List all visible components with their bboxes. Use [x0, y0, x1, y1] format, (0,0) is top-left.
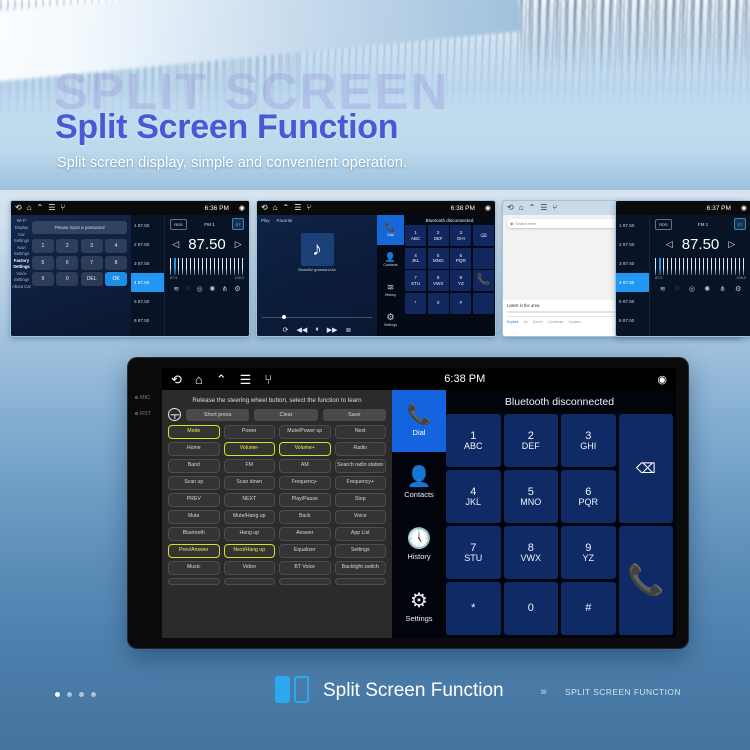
- rail-dial-label: Dial: [413, 428, 426, 437]
- radio-icon-2[interactable]: ◌: [675, 285, 679, 293]
- radio-pane: 1 87.50 2 87.50 3 87.50 4 87.50 5 87.50 …: [131, 215, 249, 337]
- key-backspace[interactable]: ⌫: [619, 414, 674, 523]
- dot-2[interactable]: [67, 692, 72, 697]
- preset-list[interactable]: 1 87.50 2 87.50 3 87.50 4 87.50 5 87.50 …: [131, 215, 165, 337]
- stereo-button[interactable]: ST: [734, 218, 746, 230]
- key-5[interactable]: 5 MNO: [504, 470, 559, 523]
- pw-key-2[interactable]: 2: [56, 239, 78, 253]
- dial-panel: 📞 Dial 👤 Contacts 🕔 History ⚙ Settings: [392, 390, 676, 638]
- dial-main: Bluetooth disconnected 1 ABC 2 DEF 3 GHI: [446, 390, 676, 638]
- footer-caption: SPLIT SCREEN FUNCTION: [565, 687, 681, 697]
- radio-icon-1[interactable]: ≋: [173, 285, 179, 293]
- radio-main: RDS FM 1 ST ◁ 87.50 ▷ 87.5 108.0: [165, 215, 249, 337]
- music-tab-play[interactable]: Play: [261, 218, 270, 223]
- learn-actions: Short press Clear Save: [168, 408, 386, 421]
- steering-wheel-icon: [168, 408, 181, 421]
- fn-scan-up[interactable]: Scan up: [168, 476, 220, 490]
- menu-icon[interactable]: ☰: [240, 373, 252, 386]
- fn-hangup[interactable]: Hang up: [224, 527, 276, 541]
- backspace-icon: ⌫: [636, 461, 656, 476]
- mini-key-6[interactable]: 6PQR: [450, 248, 471, 269]
- rds-button[interactable]: RDS: [170, 219, 187, 230]
- next-station-icon[interactable]: ▷: [728, 239, 735, 250]
- learn-instruction: Release the steering wheel button, selec…: [168, 395, 386, 408]
- map-tab-go[interactable]: Go: [524, 320, 529, 324]
- key-5-num: 5: [528, 486, 534, 498]
- thumbnail-settings-radio[interactable]: ⟲ ⌂ ⌃ ☰ ⑂ 6:36 PM ◉ Wi-Fi Display Car Se…: [10, 200, 250, 337]
- dial-mini-rail[interactable]: 📞Dial 👤Contacts ≋History ⚙Settings: [377, 215, 404, 337]
- scale-ends: 87.5 108.0: [170, 276, 244, 280]
- mini-key-delete[interactable]: ⌫: [473, 225, 494, 246]
- preset-3[interactable]: 3 87.50: [131, 254, 164, 273]
- playlist-icon[interactable]: ≣: [346, 326, 352, 334]
- person-icon: 👤: [385, 253, 396, 262]
- map-tab-contribute[interactable]: Contribute: [548, 320, 564, 324]
- location-pin-icon: ◉: [485, 204, 491, 212]
- key-4-num: 4: [470, 486, 476, 498]
- menu-icon: ☰: [48, 204, 55, 212]
- pw-key-6[interactable]: 6: [56, 256, 78, 270]
- back-icon: ⟲: [507, 204, 514, 212]
- fn-scan-down[interactable]: Scan down: [224, 476, 276, 490]
- pw-key-1[interactable]: 1: [32, 239, 54, 253]
- mini-key-call[interactable]: 📞: [473, 270, 494, 291]
- preset-3[interactable]: 3 87.50: [616, 254, 649, 273]
- preset-6[interactable]: 6 87.50: [616, 311, 649, 330]
- mini-key-hash[interactable]: #: [450, 293, 471, 314]
- thumb2-statusbar: ⟲ ⌂ ⌃ ☰ ⑂ 6:38 PM ◉: [257, 201, 495, 215]
- fn-bt-voice[interactable]: BT Voice: [279, 561, 331, 575]
- back-icon[interactable]: ⟲: [171, 373, 182, 386]
- fn-mute[interactable]: Mute: [168, 510, 220, 524]
- short-press-button[interactable]: Short press: [186, 409, 249, 421]
- location-pin-icon: ◉: [741, 204, 747, 212]
- music-controls[interactable]: ⟳ ◀◀ ⏸ ▶▶ ≣: [257, 326, 377, 334]
- band-label: FM 1: [698, 222, 708, 227]
- key-star-num: *: [471, 602, 475, 614]
- radio-toolbar[interactable]: ≋ ◌ ◎ ✺ ⋔ ⚙: [170, 285, 244, 293]
- mini-rail-contacts[interactable]: 👤Contacts: [377, 245, 404, 275]
- usb-icon: ⑂: [264, 373, 272, 386]
- album-art: ♪: [301, 233, 334, 266]
- fn-voice[interactable]: Voice: [335, 510, 387, 524]
- bezel-labels: MIC RST: [135, 391, 151, 423]
- mini-key-9[interactable]: 9YZ: [450, 270, 471, 291]
- radio-icon-6[interactable]: ⚙: [735, 285, 741, 293]
- scale-high: 108.0: [234, 276, 244, 280]
- key-6[interactable]: 6 PQR: [561, 470, 616, 523]
- tuner-scale-2[interactable]: [655, 258, 746, 275]
- preset-4[interactable]: 4 87.50: [131, 273, 164, 292]
- fn-play-pause[interactable]: Play/Pause: [279, 493, 331, 507]
- frequency-value: 87.50: [188, 236, 226, 253]
- next-icon[interactable]: ▶▶: [327, 326, 338, 334]
- tuner-scale[interactable]: [170, 258, 244, 275]
- key-4[interactable]: 4 JKL: [446, 470, 501, 523]
- mini-rail-dial[interactable]: 📞Dial: [377, 215, 404, 245]
- fn-mute-powerup[interactable]: Mute/Power up: [279, 425, 331, 439]
- fn-fm[interactable]: FM: [224, 459, 276, 473]
- fn-prev[interactable]: PREV: [168, 493, 220, 507]
- split-pane-right-icon: [294, 676, 309, 703]
- radio-pane-2: 1 87.50 2 87.50 3 87.50 4 87.50 5 87.50 …: [616, 215, 750, 337]
- thumb4-statusbar: 6:37 PM ◉: [616, 201, 750, 215]
- preset-2[interactable]: 2 87.50: [616, 235, 649, 254]
- bluetooth-status: Bluetooth disconnected: [446, 390, 673, 414]
- fn-home[interactable]: Home: [168, 442, 220, 456]
- rail-item-6[interactable]: About Car: [11, 284, 32, 290]
- key-call[interactable]: 📞: [619, 526, 674, 635]
- key-8-num: 8: [528, 542, 534, 554]
- key-7[interactable]: 7 STU: [446, 526, 501, 579]
- frequency-value: 87.50: [682, 236, 720, 253]
- rail-dial[interactable]: 📞 Dial: [392, 390, 446, 452]
- radio-icon-5[interactable]: ⋔: [720, 285, 726, 293]
- thumb4-time: 6:37 PM: [707, 205, 731, 212]
- clear-button[interactable]: Clear: [254, 409, 317, 421]
- fn-power[interactable]: Power: [224, 425, 276, 439]
- device-screen: ⟲ ⌂ ⌃ ☰ ⑂ 6:38 PM ◉ Release the steering…: [162, 368, 676, 638]
- thumb4-body: 1 87.50 2 87.50 3 87.50 4 87.50 5 87.50 …: [616, 215, 750, 337]
- chevron-up-icon: ⌃: [283, 204, 290, 212]
- settings-rail[interactable]: Wi-Fi Display Car Settings Navi Settings…: [11, 215, 32, 337]
- mini-rail-history[interactable]: ≋History: [377, 275, 404, 305]
- fn-backlight[interactable]: Backlight switch: [335, 561, 387, 575]
- radio-main-2: RDS FM 1 ST ◁ 87.50 ▷ 87.5 108.0: [650, 215, 750, 337]
- dial-rail: 📞 Dial 👤 Contacts 🕔 History ⚙ Settings: [392, 390, 446, 638]
- dot-3[interactable]: [79, 692, 84, 697]
- pw-key-4[interactable]: 4: [105, 239, 127, 253]
- gear-icon: ⚙: [410, 591, 428, 611]
- pw-key-del[interactable]: DEL: [81, 272, 103, 286]
- split-screen-icon: [275, 676, 309, 703]
- preset-list-2[interactable]: 1 87.50 2 87.50 3 87.50 4 87.50 5 87.50 …: [616, 215, 650, 337]
- gear-icon: ⚙: [386, 313, 394, 322]
- frequency-row: ◁ 87.50 ▷: [170, 236, 244, 253]
- key-2-letters: DEF: [522, 442, 540, 452]
- map-tab-saved[interactable]: Saved: [533, 320, 543, 324]
- key-8[interactable]: 8 VWX: [504, 526, 559, 579]
- chevron-up-icon: ⌃: [529, 204, 536, 212]
- back-icon: ⟲: [15, 204, 22, 212]
- bezel-rst: RST: [135, 407, 151, 423]
- split-pane-left-icon: [275, 676, 290, 703]
- fn-search-radio[interactable]: Search radio station: [335, 459, 387, 473]
- key-1-num: 1: [470, 430, 476, 442]
- fn-stop[interactable]: Stop: [335, 493, 387, 507]
- fn-volume-up[interactable]: Volume+: [279, 442, 331, 456]
- pause-icon[interactable]: ⏸: [315, 326, 319, 334]
- mini-key-8[interactable]: 8VWX: [428, 270, 449, 291]
- dot-1[interactable]: [55, 692, 60, 697]
- mini-key-star[interactable]: *: [405, 293, 426, 314]
- preset-4[interactable]: 4 87.50: [616, 273, 649, 292]
- call-green-icon: 📞: [627, 564, 664, 597]
- mini-key-2[interactable]: 2DEF: [428, 225, 449, 246]
- key-7-letters: STU: [464, 554, 482, 564]
- location-pin-icon: ◉: [239, 204, 245, 212]
- key-1[interactable]: 1 ABC: [446, 414, 501, 467]
- mini-key-0[interactable]: 0: [428, 293, 449, 314]
- rail-item-5[interactable]: Voice Settings: [11, 271, 32, 282]
- fn-mode[interactable]: Mode: [168, 425, 220, 439]
- thumb2-body: Play Favorite ♪ Beautiful grassland.ka ⟳…: [257, 215, 495, 337]
- fn-radio[interactable]: Radio: [335, 442, 387, 456]
- chevron-up-icon: ⌃: [37, 204, 44, 212]
- usb-icon: ⑂: [306, 204, 311, 212]
- radio-toolbar-2[interactable]: ≋ ◌ ◎ ✺ ⋔ ⚙: [655, 285, 746, 293]
- main-device: MIC RST ⟲ ⌂ ⌃ ☰ ⑂ 6:38 PM ◉ Release the …: [128, 358, 688, 648]
- rds-button[interactable]: RDS: [655, 219, 672, 230]
- dot-4[interactable]: [91, 692, 96, 697]
- thumbnail-row: ⟲ ⌂ ⌃ ☰ ⑂ 6:36 PM ◉ Wi-Fi Display Car Se…: [10, 200, 742, 340]
- fn-frequency-down[interactable]: Frequency-: [279, 476, 331, 490]
- usb-icon: ⑂: [60, 204, 65, 212]
- thumb2-time: 6:38 PM: [451, 205, 475, 212]
- thumb1-statusbar: ⟲ ⌂ ⌃ ☰ ⑂ 6:36 PM ◉: [11, 201, 249, 215]
- key-hash-num: #: [585, 602, 591, 614]
- radio-icon-4[interactable]: ✺: [704, 285, 710, 293]
- right-cliff: [520, 0, 750, 74]
- pw-key-9[interactable]: 9: [32, 272, 54, 286]
- prev-station-icon[interactable]: ◁: [666, 239, 673, 250]
- mini-key-4[interactable]: 4JKL: [405, 248, 426, 269]
- frequency-row-2: ◁ 87.50 ▷: [655, 236, 746, 253]
- mini-key-5[interactable]: 5MNO: [428, 248, 449, 269]
- preset-5[interactable]: 5 87.50: [616, 292, 649, 311]
- carousel-dots[interactable]: [55, 692, 96, 697]
- password-input[interactable]: Please input a password: [32, 221, 127, 234]
- mini-bt-status: Bluetooth disconnected: [405, 216, 494, 225]
- fn-settings[interactable]: Settings: [335, 544, 387, 558]
- pw-key-8[interactable]: 8: [105, 256, 127, 270]
- location-pin-icon[interactable]: ◉: [657, 373, 667, 386]
- radio-icon-6[interactable]: ⚙: [234, 285, 240, 293]
- key-2-num: 2: [528, 430, 534, 442]
- key-0[interactable]: 0: [504, 582, 559, 635]
- key-star[interactable]: *: [446, 582, 501, 635]
- fn-video[interactable]: Video: [224, 561, 276, 575]
- rail-history-label: History: [407, 552, 430, 561]
- thumbnail-music-dial[interactable]: ⟲ ⌂ ⌃ ☰ ⑂ 6:38 PM ◉ Play Favorite ♪ Beau…: [256, 200, 496, 337]
- fn-row-partial[interactable]: [279, 578, 331, 585]
- fn-row-partial[interactable]: [224, 578, 276, 585]
- rail-item-3[interactable]: Navi Settings: [11, 245, 32, 256]
- fn-bluetooth[interactable]: Bluetooth: [168, 527, 220, 541]
- radio-icon-2[interactable]: ◌: [186, 285, 190, 293]
- radio-icon-3[interactable]: ◎: [689, 285, 695, 293]
- home-icon: ⌂: [519, 204, 524, 212]
- preset-6[interactable]: 6 87.50: [131, 311, 164, 330]
- page-subtitle: Split screen display, simple and conveni…: [57, 155, 407, 171]
- key-3-num: 3: [585, 430, 591, 442]
- pw-key-5[interactable]: 5: [32, 256, 54, 270]
- footer-title: Split Screen Function: [323, 680, 504, 702]
- home-icon: ⌂: [273, 204, 278, 212]
- music-tabs[interactable]: Play Favorite: [257, 215, 377, 226]
- next-station-icon[interactable]: ▷: [235, 239, 242, 250]
- password-area: Please input a password 1 2 3 4 5 6 7 8 …: [32, 215, 131, 337]
- fn-frequency-up[interactable]: Frequency+: [335, 476, 387, 490]
- fn-music[interactable]: Music: [168, 561, 220, 575]
- key-5-letters: MNO: [520, 498, 541, 508]
- rail-history[interactable]: 🕔 History: [392, 514, 446, 576]
- radio-top: RDS FM 1 ST: [170, 218, 244, 230]
- key-9[interactable]: 9 YZ: [561, 526, 616, 579]
- map-tab-explore[interactable]: Explore: [507, 320, 519, 324]
- progress-bar[interactable]: [262, 317, 372, 318]
- rail-item-0[interactable]: Wi-Fi: [11, 218, 32, 224]
- pw-key-ok[interactable]: OK: [105, 272, 127, 286]
- save-button[interactable]: Save: [323, 409, 386, 421]
- radio-icon-5[interactable]: ⋔: [222, 285, 228, 293]
- fn-equalizer[interactable]: Equalizer: [279, 544, 331, 558]
- fn-volume-down[interactable]: Volume-: [224, 442, 276, 456]
- fn-back[interactable]: Back: [279, 510, 331, 524]
- radio-top-2: RDS FM 1 ST: [655, 218, 746, 230]
- steering-learn-panel: Release the steering wheel button, selec…: [162, 390, 392, 638]
- rail-contacts[interactable]: 👤 Contacts: [392, 452, 446, 514]
- key-2[interactable]: 2 DEF: [504, 414, 559, 467]
- home-icon[interactable]: ⌂: [195, 373, 203, 386]
- password-keypad[interactable]: 1 2 3 4 5 6 7 8 9 0 DEL OK: [32, 239, 127, 286]
- music-pane: Play Favorite ♪ Beautiful grassland.ka ⟳…: [257, 215, 377, 337]
- repeat-icon[interactable]: ⟳: [283, 326, 289, 334]
- scale-high: 108.0: [736, 276, 746, 280]
- dial-mini-right: Bluetooth disconnected 1ABC 2DEF 3GHI ⌫ …: [404, 215, 495, 337]
- thumb1-time: 6:36 PM: [205, 205, 229, 212]
- scale-low: 87.5: [170, 276, 177, 280]
- person-icon: 👤: [407, 467, 432, 487]
- mini-rail-settings[interactable]: ⚙Settings: [377, 305, 404, 335]
- prev-icon[interactable]: ◀◀: [296, 326, 307, 334]
- key-6-num: 6: [585, 486, 591, 498]
- fn-next2[interactable]: NEXT: [224, 493, 276, 507]
- home-icon: ⌂: [27, 204, 32, 212]
- key-9-num: 9: [585, 542, 591, 554]
- search-pin-icon: ◉: [510, 221, 513, 226]
- thumb1-body: Wi-Fi Display Car Settings Navi Settings…: [11, 215, 249, 337]
- key-4-letters: JKL: [465, 498, 481, 508]
- call-log-icon: 🕔: [407, 529, 432, 549]
- preset-5[interactable]: 5 87.50: [131, 292, 164, 311]
- fn-answer[interactable]: Answer: [279, 527, 331, 541]
- key-3[interactable]: 3 GHI: [561, 414, 616, 467]
- menu-icon: ☰: [294, 204, 301, 212]
- function-grid: Mode Power Mute/Power up Next Home Volum…: [168, 425, 386, 585]
- mini-key-3[interactable]: 3GHI: [450, 225, 471, 246]
- key-8-letters: VWX: [520, 554, 541, 564]
- mini-key-blank-2: [473, 293, 494, 314]
- fn-app-list[interactable]: App List: [335, 527, 387, 541]
- mini-keypad[interactable]: 1ABC 2DEF 3GHI ⌫ 4JKL 5MNO 6PQR 7STU 8VW…: [405, 225, 494, 314]
- rail-item-1[interactable]: Display: [11, 225, 32, 231]
- radio-icon-1[interactable]: ≋: [660, 285, 666, 293]
- dial-keypad: 1 ABC 2 DEF 3 GHI ⌫: [446, 414, 673, 635]
- fn-row-partial[interactable]: [168, 578, 220, 585]
- stereo-button[interactable]: ST: [232, 218, 244, 230]
- fn-next[interactable]: Next: [335, 425, 387, 439]
- menu-icon: ☰: [540, 204, 547, 212]
- mini-key-7[interactable]: 7STU: [405, 270, 426, 291]
- key-hash[interactable]: #: [561, 582, 616, 635]
- mini-key-1[interactable]: 1ABC: [405, 225, 426, 246]
- bezel-mic: MIC: [135, 391, 151, 407]
- preset-1[interactable]: 1 87.50: [131, 216, 164, 235]
- status-time: 6:38 PM: [444, 373, 485, 385]
- map-search-text: Search here: [515, 222, 536, 226]
- split-panes: Release the steering wheel button, selec…: [162, 390, 676, 638]
- pw-key-7[interactable]: 7: [81, 256, 103, 270]
- radio-icon-3[interactable]: ◎: [197, 285, 203, 293]
- mini-key-blank-1: [473, 248, 494, 269]
- thumbnail-radio[interactable]: 6:37 PM ◉ 1 87.50 2 87.50 3 87.50 4 87.5…: [615, 200, 750, 337]
- rail-contacts-label: Contacts: [404, 490, 434, 499]
- preset-1[interactable]: 1 87.50: [616, 216, 649, 235]
- music-tab-favorite[interactable]: Favorite: [277, 218, 293, 223]
- scale-ends-2: 87.5 108.0: [655, 276, 746, 280]
- back-icon: ⟲: [261, 204, 268, 212]
- key-7-num: 7: [470, 542, 476, 554]
- dial-mini-pane: 📞Dial 👤Contacts ≋History ⚙Settings Bluet…: [377, 215, 495, 337]
- chevron-up-icon[interactable]: ⌃: [216, 373, 227, 386]
- band-label: FM 1: [204, 222, 214, 227]
- key-0-num: 0: [528, 602, 534, 614]
- prev-station-icon[interactable]: ◁: [172, 239, 179, 250]
- phone-icon: 📞: [385, 223, 396, 232]
- scale-low: 87.5: [655, 276, 662, 280]
- pw-key-3[interactable]: 3: [81, 239, 103, 253]
- key-3-letters: GHI: [580, 442, 596, 452]
- preset-2[interactable]: 2 87.50: [131, 235, 164, 254]
- chevron-right-icon: ›››: [540, 686, 545, 698]
- fn-next-hangup[interactable]: Next/Hang up: [224, 544, 276, 558]
- call-log-icon: ≋: [387, 283, 395, 292]
- rail-item-2[interactable]: Car Settings: [11, 232, 32, 243]
- radio-icon-4[interactable]: ✺: [209, 285, 215, 293]
- settings-pane: Wi-Fi Display Car Settings Navi Settings…: [11, 215, 131, 337]
- rail-settings[interactable]: ⚙ Settings: [392, 576, 446, 638]
- fn-mute-hangup[interactable]: Mute/Hang up: [224, 510, 276, 524]
- rail-settings-label: Settings: [405, 614, 432, 623]
- page-title: Split Screen Function: [55, 108, 398, 147]
- status-bar: ⟲ ⌂ ⌃ ☰ ⑂ 6:38 PM ◉: [162, 368, 676, 390]
- key-1-letters: ABC: [464, 442, 483, 452]
- fn-prev-answer[interactable]: Prev/Answer: [168, 544, 220, 558]
- track-title: Beautiful grassland.ka: [257, 268, 377, 272]
- fn-am[interactable]: AM: [279, 459, 331, 473]
- key-6-letters: PQR: [578, 498, 598, 508]
- fn-row-partial[interactable]: [335, 578, 387, 585]
- usb-icon: ⑂: [552, 204, 557, 212]
- fn-band[interactable]: Band: [168, 459, 220, 473]
- phone-icon: 📞: [407, 405, 432, 425]
- map-tab-updates[interactable]: Updates: [568, 320, 581, 324]
- key-9-letters: YZ: [582, 554, 594, 564]
- rail-item-4[interactable]: Factory Settings: [11, 258, 32, 269]
- pw-key-0[interactable]: 0: [56, 272, 78, 286]
